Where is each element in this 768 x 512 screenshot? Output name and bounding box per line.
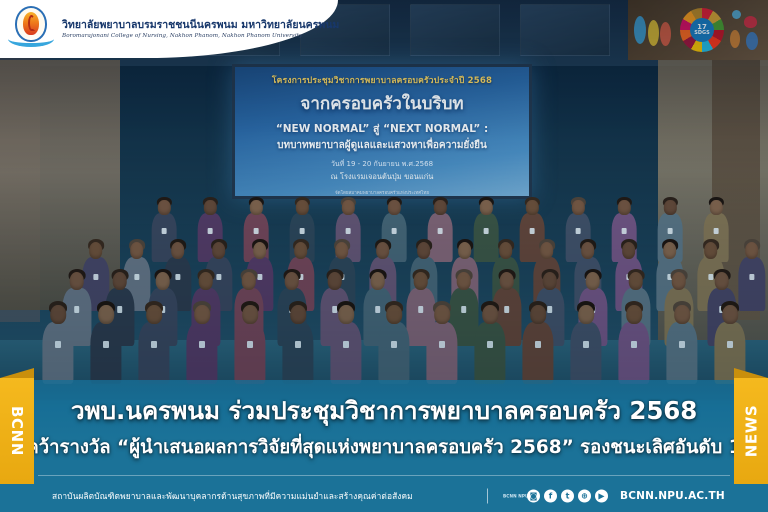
photo-colour-grade	[0, 0, 768, 400]
news-banner: วพบ.นครพนม ร่วมประชุมวิชาการพยาบาลครอบคร…	[0, 380, 768, 512]
footer-separator	[487, 489, 488, 504]
institution-name-th: วิทยาลัยพยาบาลบรมราชชนนีนครพนม มหาวิทยาล…	[62, 19, 339, 31]
footer-row: สถาบันผลิตบัณฑิตพยาบาลและพัฒนาบุคลากรด้า…	[0, 480, 768, 512]
bcnn-emblem-icon	[8, 5, 54, 53]
headline-primary: วพบ.นครพนม ร่วมประชุมวิชาการพยาบาลครอบคร…	[71, 391, 697, 430]
news-poster: 17 SDGS โครงการประชุมวิชาการพยาบาลครอบคร…	[0, 0, 768, 512]
institution-name-en: Boromarajonani College of Nursing, Nakho…	[62, 33, 339, 39]
footer-divider	[38, 475, 730, 476]
tab-news-label: NEWS	[742, 405, 760, 458]
tab-bcnn[interactable]: BCNN	[0, 378, 34, 484]
group-photo: 17 SDGS โครงการประชุมวิชาการพยาบาลครอบคร…	[0, 0, 768, 400]
institution-tagline: สถาบันผลิตบัณฑิตพยาบาลและพัฒนาบุคลากรด้า…	[52, 489, 413, 503]
facebook-icon[interactable]: f	[544, 490, 557, 503]
instagram-icon[interactable]: ◙	[527, 490, 540, 503]
tab-news[interactable]: NEWS	[734, 378, 768, 484]
youtube-icon[interactable]: ▶	[595, 490, 608, 503]
headline-secondary: คว้ารางวัล “ผู้นำเสนอผลการวิจัยที่สุดแห่…	[26, 433, 741, 462]
twitter-icon[interactable]: t	[561, 490, 574, 503]
website-globe-icon[interactable]: ⊕	[578, 490, 591, 503]
institution-name-block: วิทยาลัยพยาบาลบรมราชชนนีนครพนม มหาวิทยาล…	[62, 19, 339, 39]
tab-bcnn-label: BCNN	[8, 406, 26, 456]
social-links[interactable]: ◙ft⊕▶	[527, 490, 608, 503]
website-url[interactable]: BCNN.NPU.AC.TH	[620, 490, 725, 502]
footer-mini-logo: BCNN NPU	[503, 494, 529, 499]
headline-block: วพบ.นครพนม ร่วมประชุมวิชาการพยาบาลครอบคร…	[0, 380, 768, 472]
